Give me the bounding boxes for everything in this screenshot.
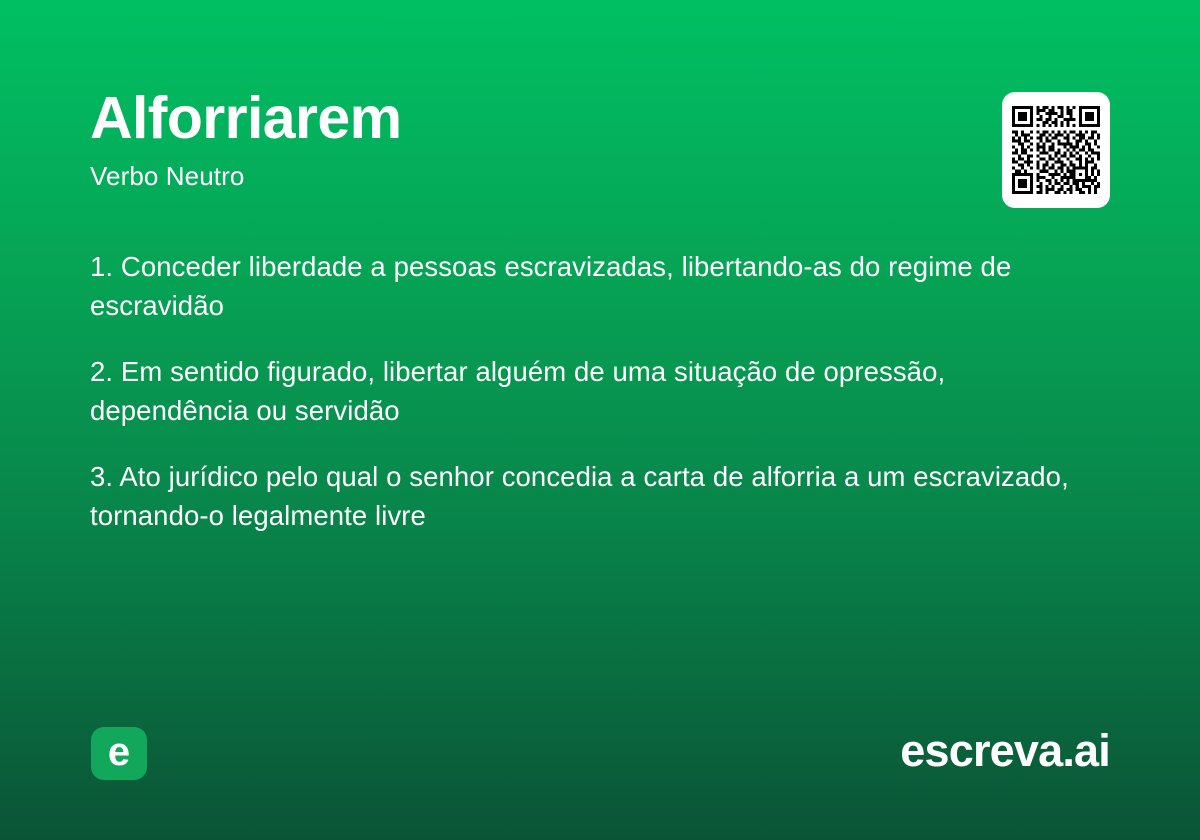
page-title: Alforriarem [90,88,1110,148]
definition-list: 1. Conceder liberdade a pessoas escraviz… [90,247,1090,535]
brand-logo-letter: e [108,732,130,772]
word-definition-card: Alforriarem Verbo Neutro [0,0,1200,840]
word-class-label: Verbo Neutro [90,162,1110,192]
list-item: 2. Em sentido figurado, libertar alguém … [90,352,1090,430]
list-item: 3. Ato jurídico pelo qual o senhor conce… [90,457,1090,535]
card-header: Alforriarem Verbo Neutro [90,88,1110,192]
list-item: 1. Conceder liberdade a pessoas escraviz… [90,247,1090,325]
qr-code-card[interactable] [1002,92,1110,208]
qr-code-icon [1012,106,1100,194]
brand-logo-badge[interactable]: e [91,727,147,780]
brand-wordmark: escreva.ai [900,728,1110,773]
